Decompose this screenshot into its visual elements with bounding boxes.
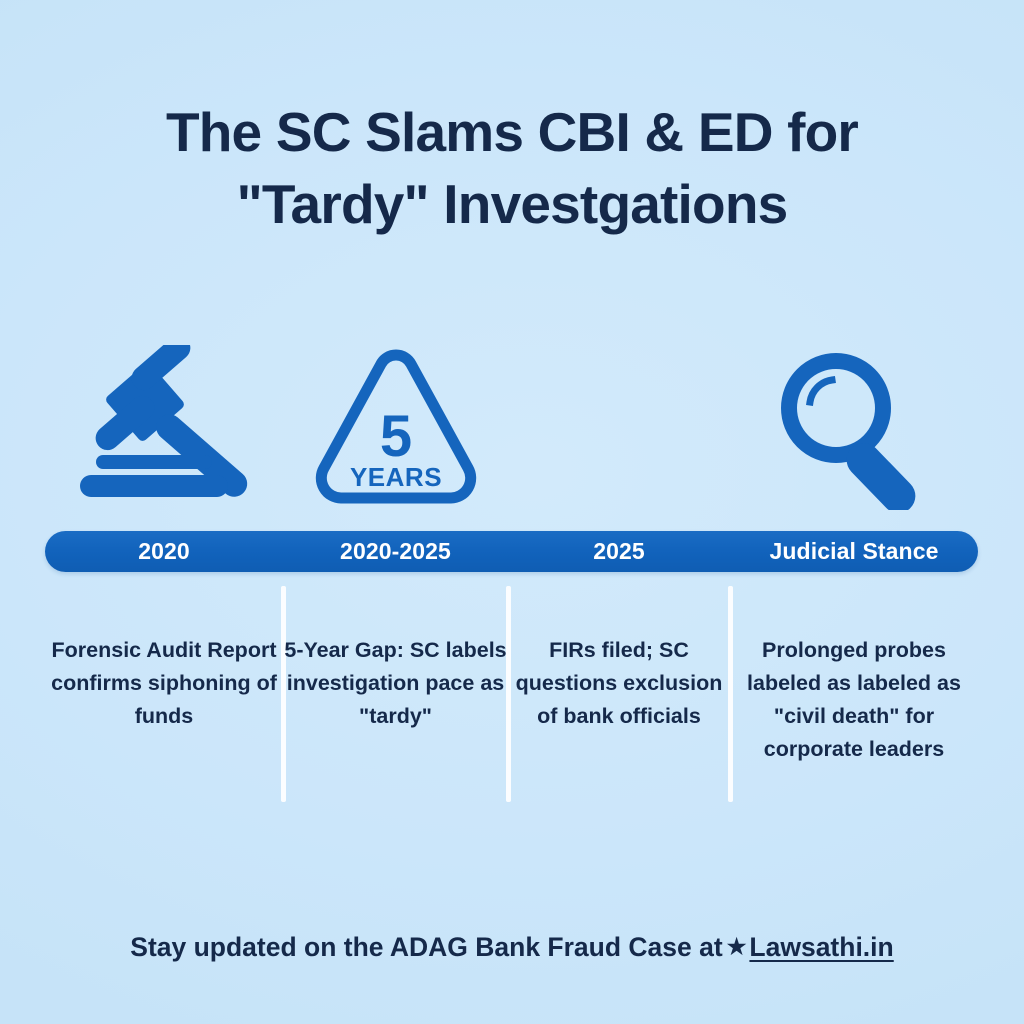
timeline-bar: 2020 2020-2025 2025 Judicial Stance (45, 531, 978, 572)
five-years-triangle-icon: 5 YEARS (306, 340, 486, 510)
icon-cell-magnifier (730, 330, 978, 520)
five-years-small-text: YEARS (349, 462, 441, 492)
five-years-big-text: 5 (379, 404, 411, 469)
page-title: The SC Slams CBI & ED for "Tardy" Invest… (0, 96, 1024, 240)
magnifier-icon (764, 340, 944, 510)
title-line-2: "Tardy" Investgations (0, 168, 1024, 240)
star-icon: ★ (727, 934, 747, 959)
footer-site-link[interactable]: Lawsathi.in (749, 932, 893, 962)
timeline-segment-judicial-stance[interactable]: Judicial Stance (730, 531, 978, 572)
detail-text-judicial-stance: Prolonged probes labeled as labeled as "… (730, 634, 978, 766)
timeline-segment-2020[interactable]: 2020 (45, 531, 283, 572)
infographic-canvas: The SC Slams CBI & ED for "Tardy" Invest… (0, 0, 1024, 1024)
icon-row: 5 YEARS (45, 330, 978, 520)
detail-text-2020: Forensic Audit Report confirms siphoning… (45, 634, 283, 733)
icon-cell-five-years: 5 YEARS (283, 330, 508, 520)
detail-text-2025: FIRs filed; SC questions exclusion of ba… (508, 634, 730, 733)
icon-cell-gavel (45, 330, 283, 520)
detail-text-2020-2025: 5-Year Gap: SC labels investigation pace… (283, 634, 508, 733)
title-line-1: The SC Slams CBI & ED for (0, 96, 1024, 168)
footer-prefix-text: Stay updated on the ADAG Bank Fraud Case… (130, 932, 722, 962)
footer: Stay updated on the ADAG Bank Fraud Case… (0, 932, 1024, 963)
gavel-icon (64, 345, 264, 505)
icon-cell-spacer (508, 330, 730, 520)
timeline-segment-2020-2025[interactable]: 2020-2025 (283, 531, 508, 572)
timeline-segment-2025[interactable]: 2025 (508, 531, 730, 572)
